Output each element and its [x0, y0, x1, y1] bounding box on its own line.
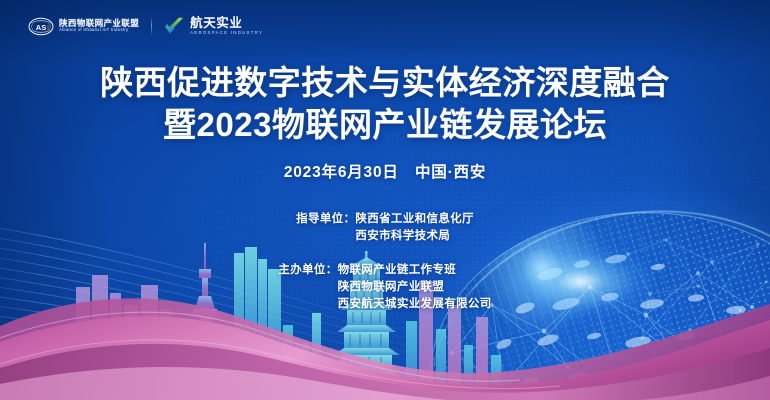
guidance-label: 指导单位： [296, 211, 355, 228]
poster-title: 陕西促进数字技术与实体经济深度融合 暨2023物联网产业链发展论坛 [0, 62, 770, 146]
host-value-1: 物联网产业链工作专班 [338, 262, 492, 279]
guidance-value-2: 西安市科学技术局 [355, 228, 474, 245]
host-value-2: 陕西物联网产业联盟 [338, 279, 492, 296]
guidance-value-1: 陕西省工业和信息化厅 [355, 211, 474, 228]
organizer-group-host: 主办单位： 物联网产业链工作专班 陕西物联网产业联盟 西安航天城实业发展有限公司 [0, 262, 770, 313]
host-value-3: 西安航天城实业发展有限公司 [338, 296, 492, 313]
host-label: 主办单位： [278, 262, 337, 279]
date-location: 2023年6月30日 中国·西安 [0, 160, 770, 182]
title-line-1: 陕西促进数字技术与实体经济深度融合 [100, 64, 670, 101]
conference-poster: AS I 陕西物联网产业联盟 Alliance of Shaanxi IoT I… [0, 0, 770, 400]
poster-content: 陕西促进数字技术与实体经济深度融合 暨2023物联网产业链发展论坛 2023年6… [0, 0, 770, 400]
organizer-group-guidance: 指导单位： 陕西省工业和信息化厅 西安市科学技术局 [0, 211, 770, 245]
title-line-2: 暨2023物联网产业链发展论坛 [0, 104, 770, 146]
